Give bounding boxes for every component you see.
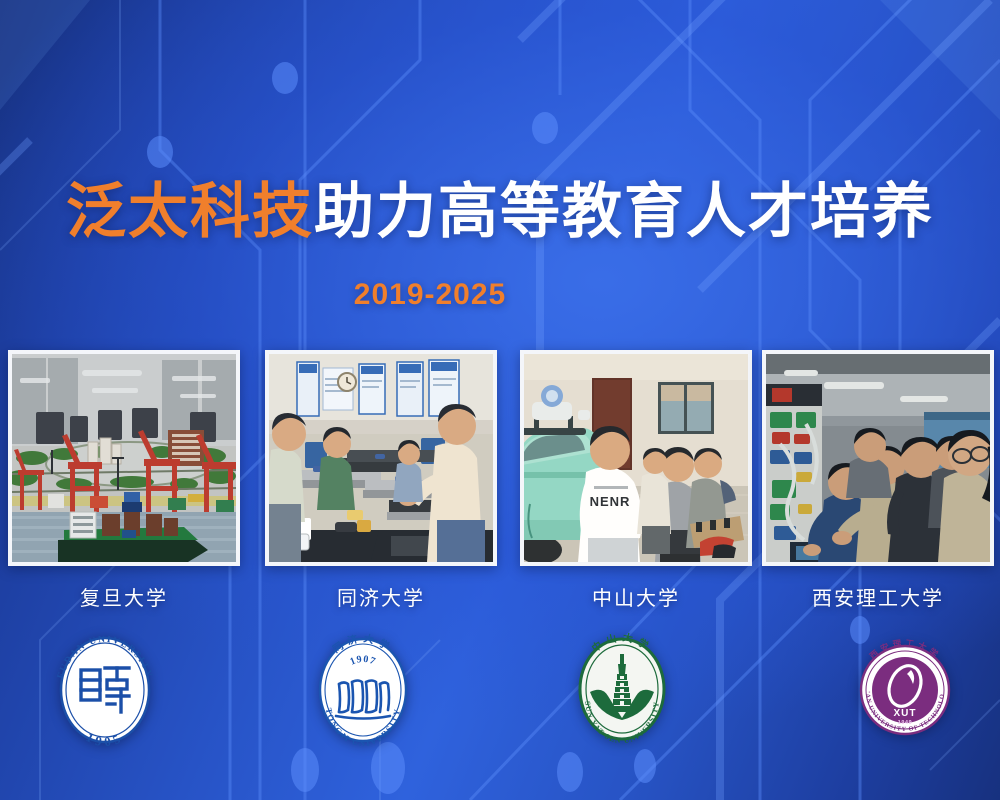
sysu-autonomous-vehicle-photo: NENR — [524, 354, 748, 562]
sun-yat-sen-university-logo: 中山大学 SUN YAT-SEN UNIVERSITY — [562, 630, 682, 750]
tongji-lab-bench-students-photo — [269, 354, 493, 562]
caption-sysu: 中山大学 — [520, 582, 752, 611]
svg-text:XUT: XUT — [894, 708, 917, 719]
photo-card-sysu[interactable]: NENR — [520, 350, 752, 566]
photo-card-fudan[interactable] — [8, 350, 240, 566]
poster-canvas: 泛太科技助力高等教育人才培养 2019-2025 — [0, 0, 1000, 800]
caption-fudan: 复旦大学 — [8, 582, 240, 611]
caption-xut: 西安理工大学 — [762, 582, 994, 611]
photo-card-tongji[interactable] — [265, 350, 497, 566]
subtitle-date-range: 2019-2025 — [0, 278, 1000, 312]
caption-tongji: 同济大学 — [265, 582, 497, 611]
svg-text:1949: 1949 — [898, 720, 912, 726]
xut-workshop-visit-photo — [766, 354, 990, 562]
title-rest: 助力高等教育人才培养 — [314, 178, 934, 245]
page-title: 泛太科技助力高等教育人才培养 — [0, 176, 1000, 248]
university-logo-row: FUDAN UNIVERSITY 1905 — [0, 630, 1000, 755]
tongji-university-logo: 同济大学 1907 TONGJI UNIVERSITY — [303, 630, 423, 750]
photo-card-xut[interactable] — [762, 350, 994, 566]
fudan-smart-city-port-model-photo — [12, 354, 236, 562]
title-highlight: 泛太科技 — [66, 178, 314, 245]
xian-university-of-technology-logo: 西安理工大学 XI'AN UNIVERSITY OF TECHNOLOGY XU… — [845, 630, 965, 750]
photo-gallery: NENR — [0, 350, 1000, 568]
fudan-university-logo: FUDAN UNIVERSITY 1905 — [45, 630, 165, 750]
